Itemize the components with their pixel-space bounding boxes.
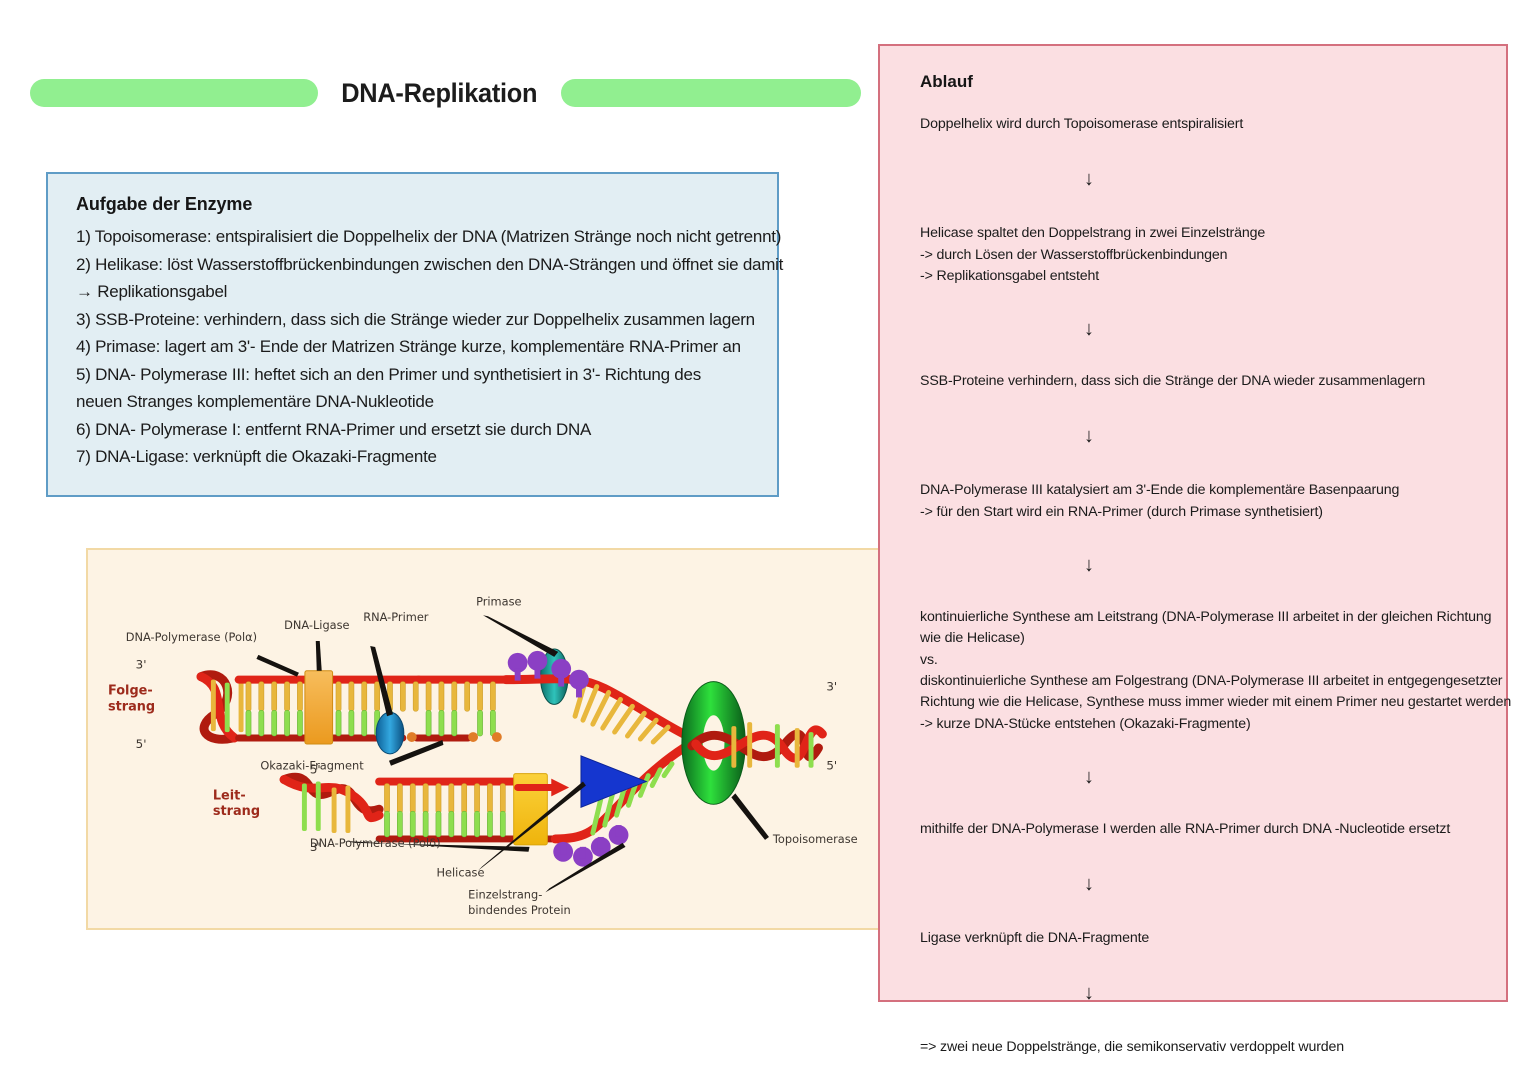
label-folgestrang-line2: strang bbox=[108, 699, 155, 714]
ablauf-heading: Ablauf bbox=[920, 72, 1478, 92]
enzyme-line: 6) DNA- Polymerase I: entfernt RNA-Prime… bbox=[76, 416, 753, 444]
flow-arrow: ↓ bbox=[920, 983, 1478, 1003]
label-prime-mid-bottom: 3' bbox=[310, 840, 321, 854]
ablauf-panel: Ablauf Doppelhelix wird durch Topoisomer… bbox=[878, 44, 1508, 1002]
step-line: -> kurze DNA-Stücke entstehen (Okazaki-F… bbox=[920, 714, 1478, 735]
step-line: Richtung wie die Helicase, Synthese muss… bbox=[920, 692, 1478, 713]
flow-arrow: ↓ bbox=[920, 319, 1478, 339]
replication-fork-diagram: DNA-Polymerase (Polα) DNA-Ligase RNA-Pri… bbox=[86, 548, 881, 930]
label-prime-right-bottom: 5' bbox=[826, 759, 837, 773]
enzyme-line: neuen Stranges komplementäre DNA-Nukleot… bbox=[76, 388, 753, 416]
enzyme-tasks-box: Aufgabe der Enzyme 1) Topoisomerase: ent… bbox=[46, 172, 779, 497]
step-line: -> durch Lösen der Wasserstoffbrückenbin… bbox=[920, 245, 1478, 266]
ablauf-step: kontinuierliche Synthese am Leitstrang (… bbox=[920, 607, 1478, 735]
ablauf-step: mithilfe der DNA-Polymerase I werden all… bbox=[920, 819, 1478, 840]
label-leitstrang-line1: Leit- bbox=[213, 788, 246, 803]
step-line: diskontinuierliche Synthese am Folgestra… bbox=[920, 671, 1478, 692]
page-title: DNA-Replikation bbox=[325, 78, 553, 109]
label-topoisomerase: Topoisomerase bbox=[772, 832, 858, 846]
enzyme-box-heading: Aufgabe der Enzyme bbox=[76, 194, 753, 215]
top-strand-left-curl bbox=[201, 675, 244, 740]
step-line: -> Replikationsgabel entsteht bbox=[920, 266, 1478, 287]
label-prime-left-bottom: 5' bbox=[136, 737, 147, 751]
ablauf-step: Helicase spaltet den Doppelstrang in zwe… bbox=[920, 223, 1478, 287]
enzyme-line: 1) Topoisomerase: entspiralisiert die Do… bbox=[76, 223, 753, 251]
enzyme-line: → Replikationsgabel bbox=[76, 278, 753, 306]
label-leitstrang-line2: strang bbox=[213, 804, 260, 819]
ablauf-step: SSB-Proteine verhindern, dass sich die S… bbox=[920, 371, 1478, 392]
flow-arrow: ↓ bbox=[920, 426, 1478, 446]
page-title-row: DNA-Replikation bbox=[30, 72, 860, 114]
label-dna-polymerase-delta: DNA-Polymerase (Polδ) bbox=[310, 836, 441, 850]
step-line: kontinuierliche Synthese am Leitstrang (… bbox=[920, 607, 1478, 628]
flow-arrow: ↓ bbox=[920, 874, 1478, 894]
enzyme-line: 3) SSB-Proteine: verhindern, dass sich d… bbox=[76, 306, 753, 334]
bottom-strand-left-curl bbox=[284, 777, 379, 833]
step-line: DNA-Polymerase III katalysiert am 3'-End… bbox=[920, 480, 1478, 501]
label-dna-polymerase-alpha: DNA-Polymerase (Polα) bbox=[126, 630, 257, 644]
ablauf-step: => zwei neue Doppelstränge, die semikons… bbox=[920, 1037, 1478, 1058]
enzyme-line: 2) Helikase: löst Wasserstoffbrückenbind… bbox=[76, 251, 753, 279]
flow-arrow: ↓ bbox=[920, 169, 1478, 189]
top-base-pairs bbox=[246, 682, 496, 736]
title-highlight-right bbox=[561, 79, 861, 107]
top-fork-divergence bbox=[506, 679, 684, 742]
step-line: Helicase spaltet den Doppelstrang in zwe… bbox=[920, 223, 1478, 244]
label-folgestrang-line1: Folge- bbox=[108, 683, 153, 698]
step-line: => zwei neue Doppelstränge, die semikons… bbox=[920, 1037, 1478, 1058]
ablauf-step: Doppelhelix wird durch Topoisomerase ent… bbox=[920, 114, 1478, 135]
replication-fork-illustration: DNA-Polymerase (Polα) DNA-Ligase RNA-Pri… bbox=[88, 550, 879, 928]
label-helicase: Helicase bbox=[436, 866, 484, 880]
dna-ligase-block bbox=[305, 671, 333, 744]
enzyme-line: 5) DNA- Polymerase III: heftet sich an d… bbox=[76, 361, 753, 389]
step-line: Doppelhelix wird durch Topoisomerase ent… bbox=[920, 114, 1478, 135]
step-line: SSB-Proteine verhindern, dass sich die S… bbox=[920, 371, 1478, 392]
label-primase: Primase bbox=[476, 594, 521, 608]
enzyme-line: 7) DNA-Ligase: verknüpft die Okazaki-Fra… bbox=[76, 443, 753, 471]
step-line: wie die Helicase) bbox=[920, 628, 1478, 649]
label-ssb-protein-line2: bindendes Protein bbox=[468, 903, 571, 917]
label-prime-mid-top: 5' bbox=[310, 763, 321, 777]
enzyme-line: 4) Primase: lagert am 3'- Ende der Matri… bbox=[76, 333, 753, 361]
label-prime-right-top: 3' bbox=[826, 680, 837, 694]
label-ssb-protein-line1: Einzelstrang- bbox=[468, 887, 542, 901]
step-line: vs. bbox=[920, 650, 1478, 671]
step-line: Ligase verknüpft die DNA-Fragmente bbox=[920, 928, 1478, 949]
label-rna-primer: RNA-Primer bbox=[363, 610, 429, 624]
label-prime-left-top: 3' bbox=[136, 658, 147, 672]
ablauf-step: Ligase verknüpft die DNA-Fragmente bbox=[920, 928, 1478, 949]
step-line: -> für den Start wird ein RNA-Primer (du… bbox=[920, 502, 1478, 523]
label-dna-ligase: DNA-Ligase bbox=[284, 618, 349, 632]
dna-polymerase-alpha-oval bbox=[376, 712, 404, 754]
ablauf-step: DNA-Polymerase III katalysiert am 3'-End… bbox=[920, 480, 1478, 523]
title-highlight-left bbox=[30, 79, 318, 107]
flow-arrow: ↓ bbox=[920, 555, 1478, 575]
step-line: mithilfe der DNA-Polymerase I werden all… bbox=[920, 819, 1478, 840]
flow-arrow: ↓ bbox=[920, 767, 1478, 787]
